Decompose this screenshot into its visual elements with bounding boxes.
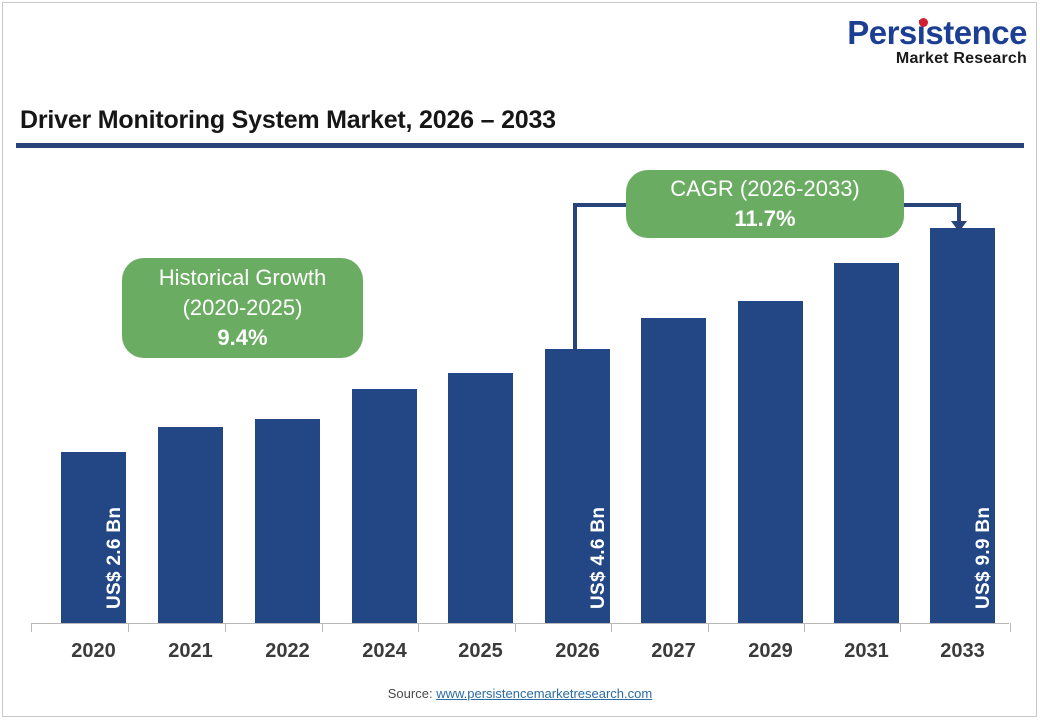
bar-2031 [834, 263, 899, 623]
x-tick-label-2033: 2033 [918, 640, 1008, 663]
x-tick-label-2031: 2031 [822, 640, 912, 663]
x-tick [708, 623, 709, 632]
chart-page: Persistence Market Research Driver Monit… [0, 0, 1040, 720]
x-tick-label-2020: 2020 [49, 640, 139, 663]
x-axis-line [31, 623, 1009, 624]
x-tick-label-2021: 2021 [146, 640, 236, 663]
bar-2027 [641, 318, 706, 623]
x-tick-label-2024: 2024 [340, 640, 430, 663]
bar-2021 [158, 427, 223, 623]
cagr-connector-left-vertical [573, 203, 577, 351]
cagr-callout: CAGR (2026-2033) 11.7% [626, 170, 904, 238]
x-tick [31, 623, 32, 632]
x-tick [225, 623, 226, 632]
cagr-label: CAGR (2026-2033) [670, 174, 860, 204]
x-tick-label-2026: 2026 [533, 640, 623, 663]
x-tick [128, 623, 129, 632]
historical-growth-label: Historical Growth [159, 263, 326, 293]
bar-2025 [448, 373, 513, 623]
historical-growth-callout: Historical Growth (2020-2025) 9.4% [122, 258, 363, 358]
x-tick-label-2027: 2027 [629, 640, 719, 663]
x-tick-label-2022: 2022 [243, 640, 333, 663]
bar-value-label-2020: US$ 2.6 Bn [104, 507, 126, 609]
x-tick-label-2029: 2029 [726, 640, 816, 663]
bar-2029 [738, 301, 803, 623]
historical-growth-value: 9.4% [217, 323, 267, 353]
bar-chart: US$ 2.6 BnUS$ 4.6 BnUS$ 9.9 Bn 202020212… [0, 0, 1040, 720]
bar-value-label-2026: US$ 4.6 Bn [588, 507, 610, 609]
x-tick [611, 623, 612, 632]
x-tick [804, 623, 805, 632]
source-footer: Source: www.persistencemarketresearch.co… [0, 686, 1040, 701]
cagr-connector-right-horizontal [895, 203, 961, 207]
source-link[interactable]: www.persistencemarketresearch.com [436, 686, 652, 701]
x-tick-label-2025: 2025 [436, 640, 526, 663]
bar-2024 [352, 389, 417, 623]
x-tick [515, 623, 516, 632]
bar-2022 [255, 419, 320, 623]
x-tick [322, 623, 323, 632]
historical-growth-period: (2020-2025) [183, 293, 303, 323]
x-tick [418, 623, 419, 632]
cagr-value: 11.7% [734, 204, 795, 234]
bar-value-label-2033: US$ 9.9 Bn [973, 507, 995, 609]
x-tick [900, 623, 901, 632]
x-tick [1010, 623, 1011, 632]
cagr-arrow-icon [951, 221, 967, 232]
cagr-connector-right-vertical [957, 203, 961, 223]
source-prefix: Source: [388, 686, 436, 701]
